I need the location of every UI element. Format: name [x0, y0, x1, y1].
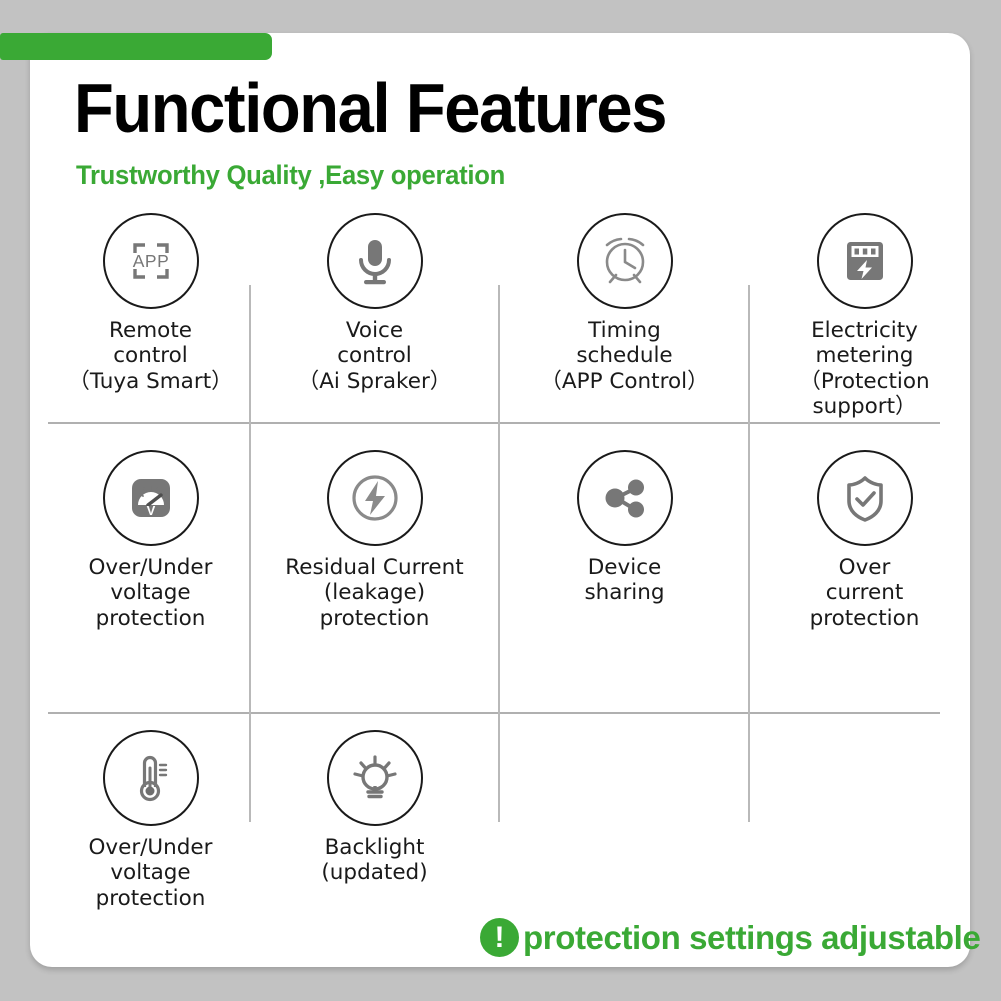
footer-note: ! protection settings adjustable [480, 918, 980, 957]
grid-divider-horizontal [48, 712, 940, 714]
page-subtitle: Trustworthy Quality ,Easy operation [76, 160, 505, 191]
feature-label: Timing schedule （APP Control） [512, 318, 737, 394]
alarm-clock-icon [577, 213, 673, 309]
footer-note-text: protection settings adjustable [523, 919, 980, 957]
grid-divider-vertical [748, 712, 750, 822]
feature-label: Voice control （Ai Spraker） [262, 318, 487, 394]
grid-divider-horizontal [48, 422, 940, 424]
grid-divider-vertical [498, 712, 500, 822]
feature-item-over-current-protection[interactable]: Over current protection [752, 450, 977, 631]
feature-item-timing-schedule[interactable]: Timing schedule （APP Control） [512, 213, 737, 394]
microphone-icon [327, 213, 423, 309]
feature-label: Electricity metering （Protection support… [752, 318, 977, 419]
features-grid: APP Remote control （Tuya Smart） Voice co… [30, 205, 970, 905]
svg-text:APP: APP [132, 251, 169, 271]
page-root: Functional Features Trustworthy Quality … [0, 0, 1001, 1001]
feature-item-voice-control[interactable]: Voice control （Ai Spraker） [262, 213, 487, 394]
feature-label: Over/Under voltage protection [38, 555, 263, 631]
feature-label: Residual Current (leakage) protection [262, 555, 487, 631]
app-frame-icon: APP [103, 213, 199, 309]
feature-item-over-under-voltage-protection[interactable]: V Over/Under voltage protection [38, 450, 263, 631]
feature-label: Over/Under voltage protection [38, 835, 263, 911]
feature-item-remote-control[interactable]: APP Remote control （Tuya Smart） [38, 213, 263, 394]
feature-item-electricity-metering[interactable]: Electricity metering （Protection support… [752, 213, 977, 419]
grid-divider-vertical [748, 285, 750, 422]
feature-label: Remote control （Tuya Smart） [38, 318, 263, 394]
svg-text:V: V [146, 503, 155, 518]
feature-label: Over current protection [752, 555, 977, 631]
feature-item-device-sharing[interactable]: Device sharing [512, 450, 737, 606]
exclamation-icon: ! [480, 918, 519, 957]
feature-item-residual-current-protection[interactable]: Residual Current (leakage) protection [262, 450, 487, 631]
feature-item-temperature-protection[interactable]: Over/Under voltage protection [38, 730, 263, 911]
share-nodes-icon [577, 450, 673, 546]
grid-divider-vertical [748, 422, 750, 712]
feature-item-backlight[interactable]: Backlight (updated) [262, 730, 487, 886]
thermometer-icon [103, 730, 199, 826]
grid-divider-vertical [498, 422, 500, 712]
grid-divider-vertical [498, 285, 500, 422]
feature-label: Device sharing [512, 555, 737, 606]
light-bulb-icon [327, 730, 423, 826]
voltmeter-gauge-icon: V [103, 450, 199, 546]
page-title: Functional Features [74, 72, 666, 146]
shield-check-icon [817, 450, 913, 546]
green-accent-bar [0, 33, 272, 60]
lightning-bolt-circle-icon [327, 450, 423, 546]
feature-label: Backlight (updated) [262, 835, 487, 886]
electricity-meter-icon [817, 213, 913, 309]
